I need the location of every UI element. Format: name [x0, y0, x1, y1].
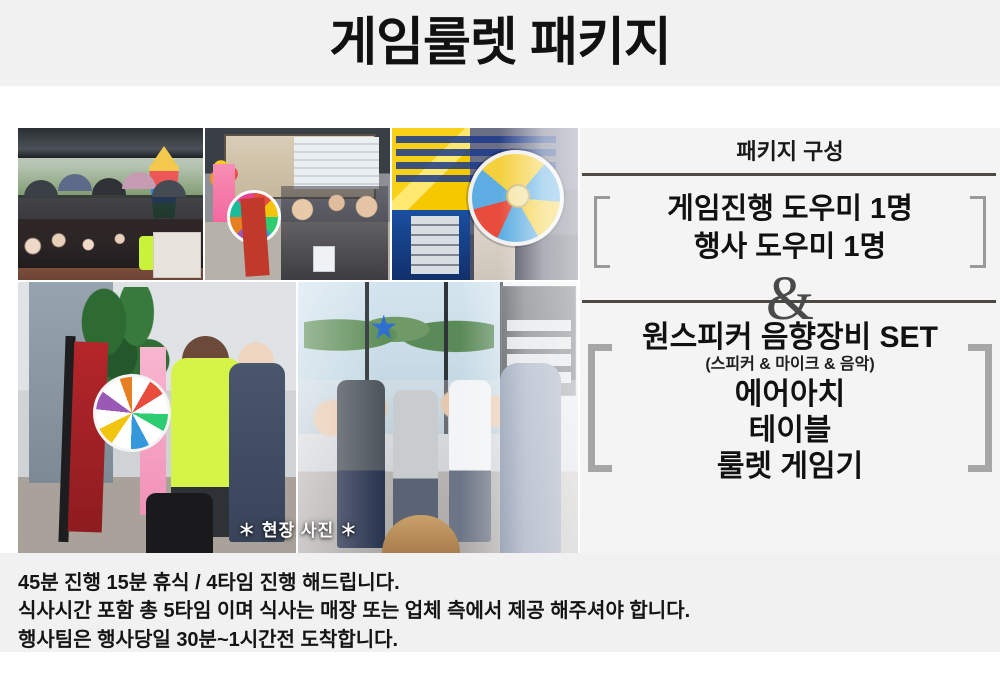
- footer-notes-inner: 45분 진행 15분 휴식 / 4타임 진행 해드립니다. 식사시간 포함 총 …: [18, 569, 690, 654]
- page-title: 게임룰렛 패키지: [329, 17, 670, 69]
- photo-indoor-queue: [298, 282, 578, 553]
- roulette-wheel-icon: [93, 374, 171, 452]
- note-line: 식사시간 포함 총 5타임 이며 식사는 매장 또는 업체 측에서 제공 해주셔…: [18, 597, 690, 625]
- equipment-list: 원스피커 음향장비 SET (스피커 & 마이크 & 음악) 에어아치 테이블 …: [620, 320, 960, 485]
- prize-box-shape: [153, 232, 201, 278]
- footer-notes: 45분 진행 15분 휴식 / 4타임 진행 해드립니다. 식사시간 포함 총 …: [0, 553, 1000, 652]
- canopy-layer: [18, 128, 203, 158]
- photo-collage: ＊ 현장 사진 ＊: [18, 128, 578, 553]
- shopping-bag-shape: [313, 246, 335, 272]
- photo-storefront-wheel: [205, 128, 390, 280]
- poster-thumbnails-shape: [411, 216, 459, 274]
- equipment-group: 원스피커 음향장비 SET (스피커 & 마이크 & 음악) 에어아치 테이블 …: [580, 320, 1000, 540]
- staff-list: 게임진행 도우미 1명 행사 도우미 1명: [622, 190, 958, 267]
- bracket-right-icon: [968, 344, 992, 472]
- equipment-item: 에어아치: [620, 377, 960, 413]
- bracket-left-icon: [588, 344, 612, 472]
- photo-outdoor-rain-queue: [18, 128, 203, 280]
- equipment-subtitle: (스피커 & 마이크 & 음악): [620, 355, 960, 375]
- menu-board-shape: [294, 137, 379, 189]
- content-row: ＊ 현장 사진 ＊ 패키지 구성 게임진행 도우미 1명 행사 도우미 1명 &…: [0, 128, 1000, 553]
- note-line: 45분 진행 15분 휴식 / 4타임 진행 해드립니다.: [18, 569, 690, 597]
- outdoor-trees-shape: [304, 293, 494, 363]
- wheel-hub-shape: [506, 184, 530, 208]
- photo-row-bottom: ＊ 현장 사진 ＊: [18, 282, 578, 553]
- equipment-item: 룰렛 게임기: [620, 449, 960, 485]
- photo-caption: ＊ 현장 사진 ＊: [18, 516, 578, 541]
- bracket-left-icon: [594, 196, 610, 268]
- photo-row-top: [18, 128, 578, 280]
- ampersand-symbol: &: [580, 268, 1000, 330]
- staff-item: 게임진행 도우미 1명: [622, 190, 958, 228]
- title-band: 게임룰렛 패키지: [0, 0, 1000, 86]
- sign-row: [507, 337, 571, 349]
- photo-night-street-wheel: [392, 128, 578, 280]
- equipment-item: 테이블: [620, 413, 960, 449]
- photo-indoor-event-host: [18, 282, 296, 553]
- staff-item: 행사 도우미 1명: [622, 228, 958, 266]
- note-line: 행사팀은 행사당일 30분~1시간전 도착합니다.: [18, 626, 690, 654]
- divider-top: [582, 173, 996, 176]
- panel-heading: 패키지 구성: [580, 134, 1000, 166]
- package-panel: 패키지 구성 게임진행 도우미 1명 행사 도우미 1명 & 원스피커 음향장비…: [580, 128, 1000, 553]
- sign-row: [507, 320, 571, 332]
- bracket-right-icon: [970, 196, 986, 268]
